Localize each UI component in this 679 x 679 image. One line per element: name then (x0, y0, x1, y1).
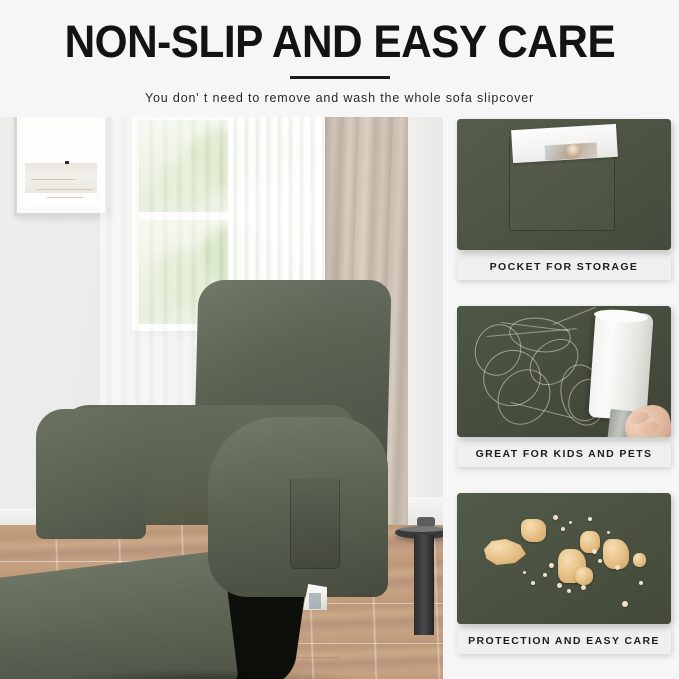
panel-caption-pocket-for-storage: POCKET FOR STORAGE (457, 254, 671, 280)
crumb-speck (561, 527, 565, 531)
panel-caption-protection-and-easy-care: PROTECTION AND EASY CARE (457, 628, 671, 654)
crumb-speck (598, 559, 602, 563)
panel-image-pocket-for-storage (457, 119, 671, 250)
recliner-side-pocket (290, 479, 340, 569)
side-table-top-highlight (398, 526, 443, 532)
crumb-speck (588, 517, 592, 521)
art-texture-speck (31, 179, 75, 180)
crumb-speck (523, 571, 526, 574)
crumb-speck (543, 573, 547, 577)
art-focal-dot (65, 161, 69, 164)
crumb-speck (531, 581, 535, 585)
framed-wall-art (14, 117, 108, 216)
recliner-floor-shadow (60, 669, 360, 679)
crumb-speck (607, 531, 610, 534)
header-block: NON-SLIP AND EASY CARE You don' t need t… (0, 0, 679, 117)
side-table-base (414, 535, 434, 635)
crumb-speck (549, 563, 554, 568)
panel-image-protection-and-easy-care (457, 493, 671, 624)
crumb-small (633, 553, 646, 567)
crumb-speck (622, 601, 628, 607)
crumb-speck (567, 589, 571, 593)
panel-caption-great-for-kids-and-pets: GREAT FOR KIDS AND PETS (457, 441, 671, 467)
feature-panel-pocket-for-storage: POCKET FOR STORAGE (457, 119, 671, 280)
crumb-speck (639, 581, 643, 585)
crumb-speck (557, 583, 562, 588)
feature-panel-great-for-kids-and-pets: GREAT FOR KIDS AND PETS (457, 306, 671, 467)
art-texture-speck (37, 189, 93, 190)
feature-panel-column: POCKET FOR STORAGE GREAT FOR KIDS AND (455, 117, 679, 679)
page-title: NON-SLIP AND EASY CARE (64, 18, 615, 65)
art-texture-speck (47, 197, 83, 198)
feature-panel-protection-and-easy-care: PROTECTION AND EASY CARE (457, 493, 671, 654)
crumb-speck (615, 565, 620, 570)
wall-right-segment (408, 117, 443, 543)
recliner-left-arm (36, 409, 146, 539)
main-lifestyle-photo (0, 117, 443, 679)
panel-image-great-for-kids-and-pets (457, 306, 671, 437)
crumb-speck (569, 521, 572, 524)
lint-roller-body (588, 310, 653, 421)
crumb-medium (521, 519, 546, 542)
crumb-medium (580, 531, 600, 553)
pocket-contents-remote (309, 593, 321, 609)
crumb-speck (592, 549, 597, 554)
title-divider-rule (290, 76, 390, 79)
crumb-small (575, 567, 593, 585)
crumb-speck (553, 515, 558, 520)
crumb-speck (581, 585, 586, 590)
page-subtitle: You don' t need to remove and wash the w… (145, 91, 534, 105)
